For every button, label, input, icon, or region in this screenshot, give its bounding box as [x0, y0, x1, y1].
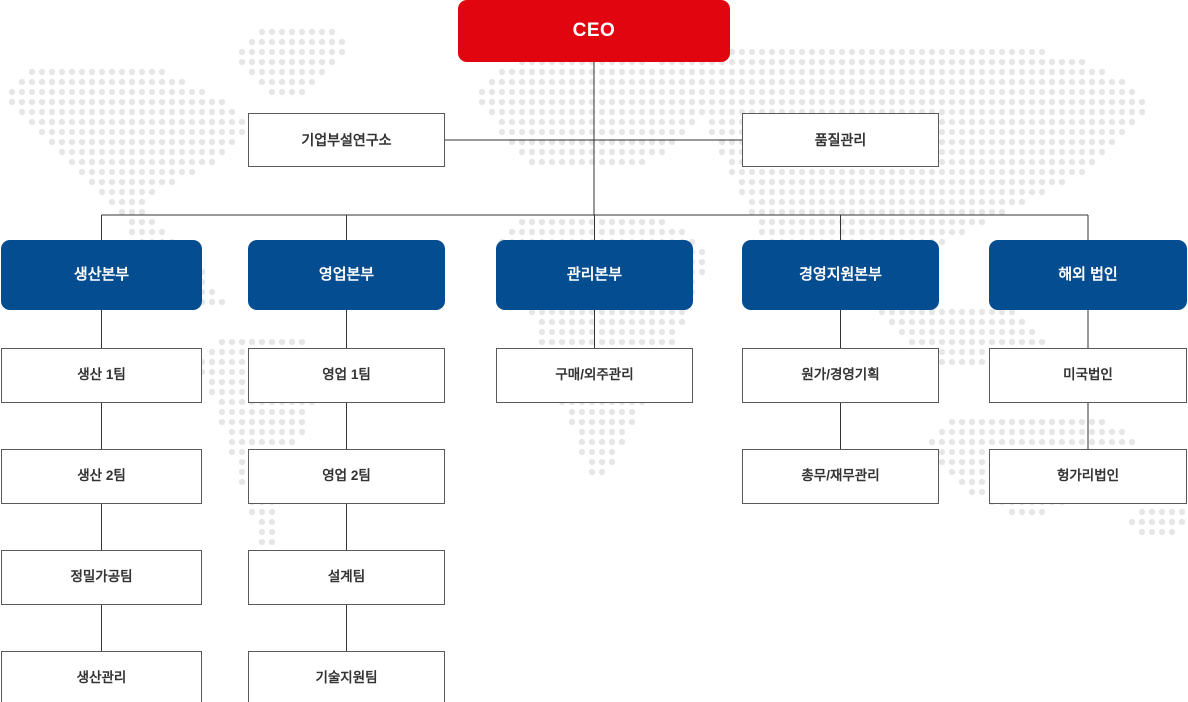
node-division-sales[interactable]: 영업본부: [248, 240, 445, 310]
node-team[interactable]: 원가/경영기획: [742, 348, 939, 403]
node-team[interactable]: 영업 2팀: [248, 449, 445, 504]
node-team[interactable]: 미국법인: [989, 348, 1187, 403]
node-team[interactable]: 설계팀: [248, 550, 445, 605]
node-team[interactable]: 기술지원팀: [248, 651, 445, 702]
node-team[interactable]: 구매/외주관리: [496, 348, 693, 403]
node-division-mgmt-support[interactable]: 경영지원본부: [742, 240, 939, 310]
node-team[interactable]: 헝가리법인: [989, 449, 1187, 504]
node-division-management[interactable]: 관리본부: [496, 240, 693, 310]
node-division-production[interactable]: 생산본부: [1, 240, 202, 310]
node-team[interactable]: 생산관리: [1, 651, 202, 702]
node-division-overseas[interactable]: 해외 법인: [989, 240, 1187, 310]
node-staff-quality-control[interactable]: 품질관리: [742, 113, 939, 167]
node-team[interactable]: 총무/재무관리: [742, 449, 939, 504]
node-staff-research-institute[interactable]: 기업부설연구소: [248, 113, 445, 167]
node-team[interactable]: 생산 2팀: [1, 449, 202, 504]
node-team[interactable]: 정밀가공팀: [1, 550, 202, 605]
node-team[interactable]: 영업 1팀: [248, 348, 445, 403]
org-chart: CEO 기업부설연구소 품질관리 생산본부생산 1팀생산 2팀정밀가공팀생산관리…: [0, 0, 1188, 702]
node-ceo[interactable]: CEO: [458, 0, 730, 62]
node-team[interactable]: 생산 1팀: [1, 348, 202, 403]
